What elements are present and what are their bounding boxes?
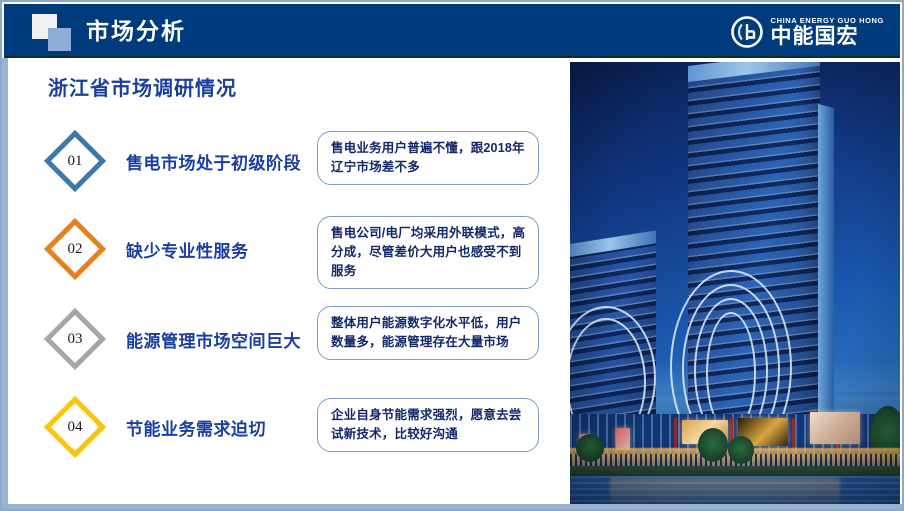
diamond-badge: 02 [42,216,108,282]
diamond-badge: 04 [42,394,108,460]
item-note-callout: 整体用户能源数字化水平低，用户数量多，能源管理存在大量市场 [317,306,539,360]
guohong-circle-logo-icon [730,15,764,49]
item-number: 02 [42,216,108,282]
slide-root: 市场分析 CHINA ENERGY GUO HONG 中能国宏 浙江省市场调研情… [0,0,904,511]
brand-english-name: CHINA ENERGY GUO HONG [771,16,884,25]
skyscraper-night-rendering [570,62,900,504]
item-note-callout: 企业自身节能需求强烈，愿意去尝试新技术，比较好沟通 [317,398,539,452]
item-number: 03 [42,306,108,372]
section-heading: 浙江省市场调研情况 [48,72,237,101]
image-vignette [570,62,900,504]
item-note-callout: 售电公司/电厂均采用外联模式，高分成，尽管差价大用户也感受不到服务 [317,216,539,289]
two-squares-icon [32,14,76,50]
item-label: 缺少专业性服务 [126,237,249,262]
brand-logo: CHINA ENERGY GUO HONG 中能国宏 [730,13,884,51]
item-label: 能源管理市场空间巨大 [126,327,301,352]
brand-chinese-name: 中能国宏 [771,25,884,48]
item-number: 01 [42,128,108,194]
brand-text-block: CHINA ENERGY GUO HONG 中能国宏 [771,15,884,49]
slide-header: 市场分析 CHINA ENERGY GUO HONG 中能国宏 [4,4,900,58]
left-edge-strip [0,58,8,507]
bottom-edge-strip [0,504,904,511]
square-front [48,28,71,51]
item-label: 售电市场处于初级阶段 [126,149,301,174]
item-number: 04 [42,394,108,460]
item-note-callout: 售电业务用户普遍不懂，跟2018年辽宁市场差不多 [317,131,539,185]
item-label: 节能业务需求迫切 [126,415,266,440]
diamond-badge: 01 [42,128,108,194]
diamond-badge: 03 [42,306,108,372]
page-title: 市场分析 [86,14,186,48]
